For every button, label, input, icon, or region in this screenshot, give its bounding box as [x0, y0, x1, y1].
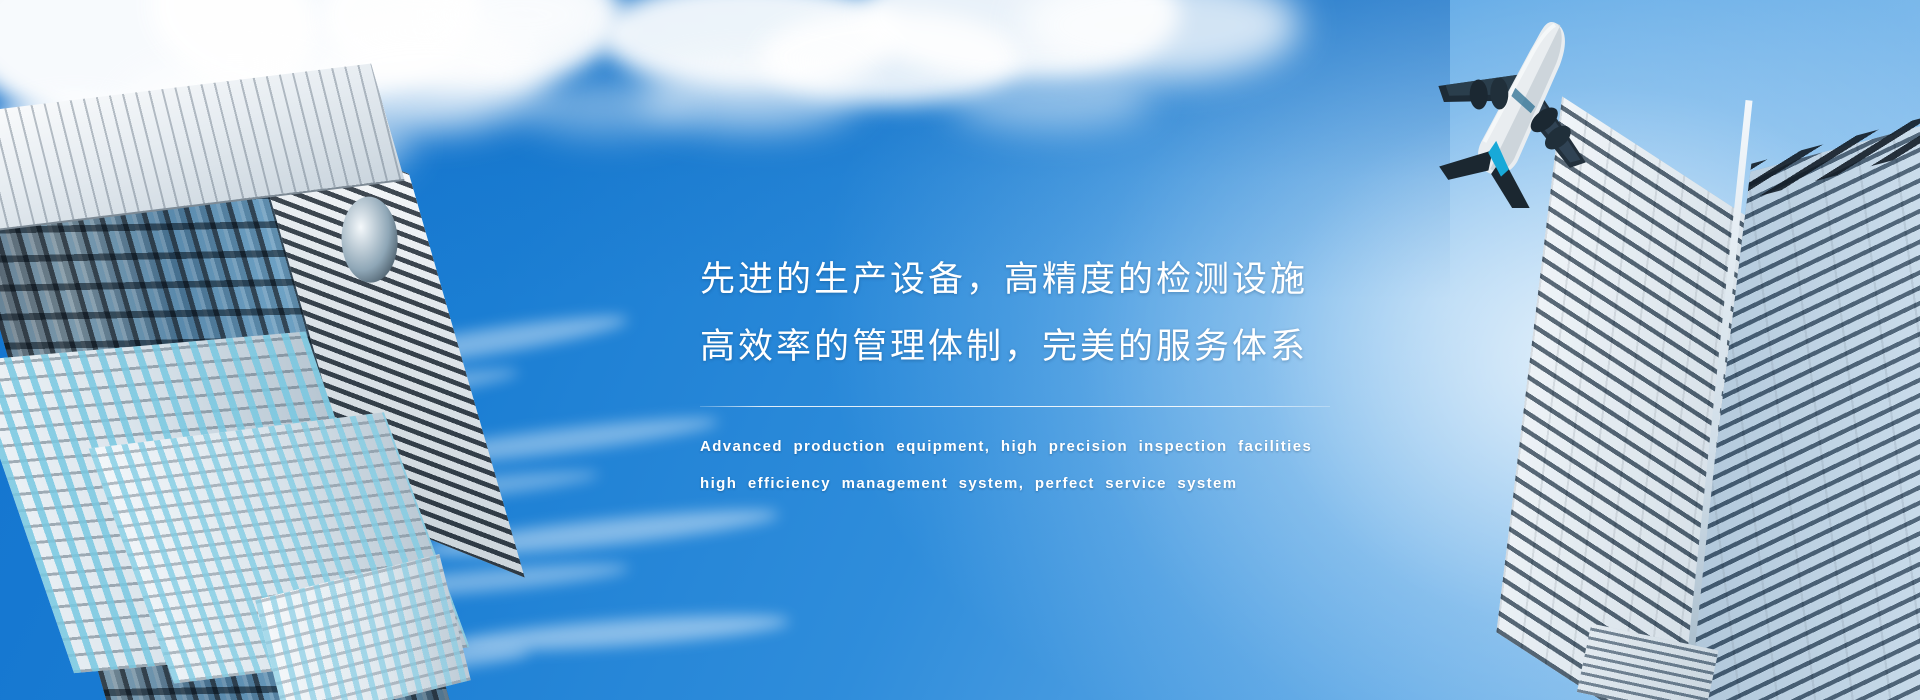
banner-text-block: 先进的生产设备，高精度的检测设施 高效率的管理体制，完美的服务体系 Advanc… [700, 262, 1400, 491]
divider [700, 406, 1330, 407]
hero-banner: 先进的生产设备，高精度的检测设施 高效率的管理体制，完美的服务体系 Advanc… [0, 0, 1920, 700]
headline-line-1: 先进的生产设备，高精度的检测设施 [700, 262, 1400, 297]
airplane-icon [1415, 8, 1625, 208]
subheadline-line-2: high efficiency management system, perfe… [700, 476, 1400, 491]
subheadline-line-1: Advanced production equipment, high prec… [700, 439, 1400, 454]
cloud-icon [520, 80, 690, 135]
cloud-icon [950, 70, 1150, 130]
headline-line-2: 高效率的管理体制，完美的服务体系 [700, 329, 1400, 364]
